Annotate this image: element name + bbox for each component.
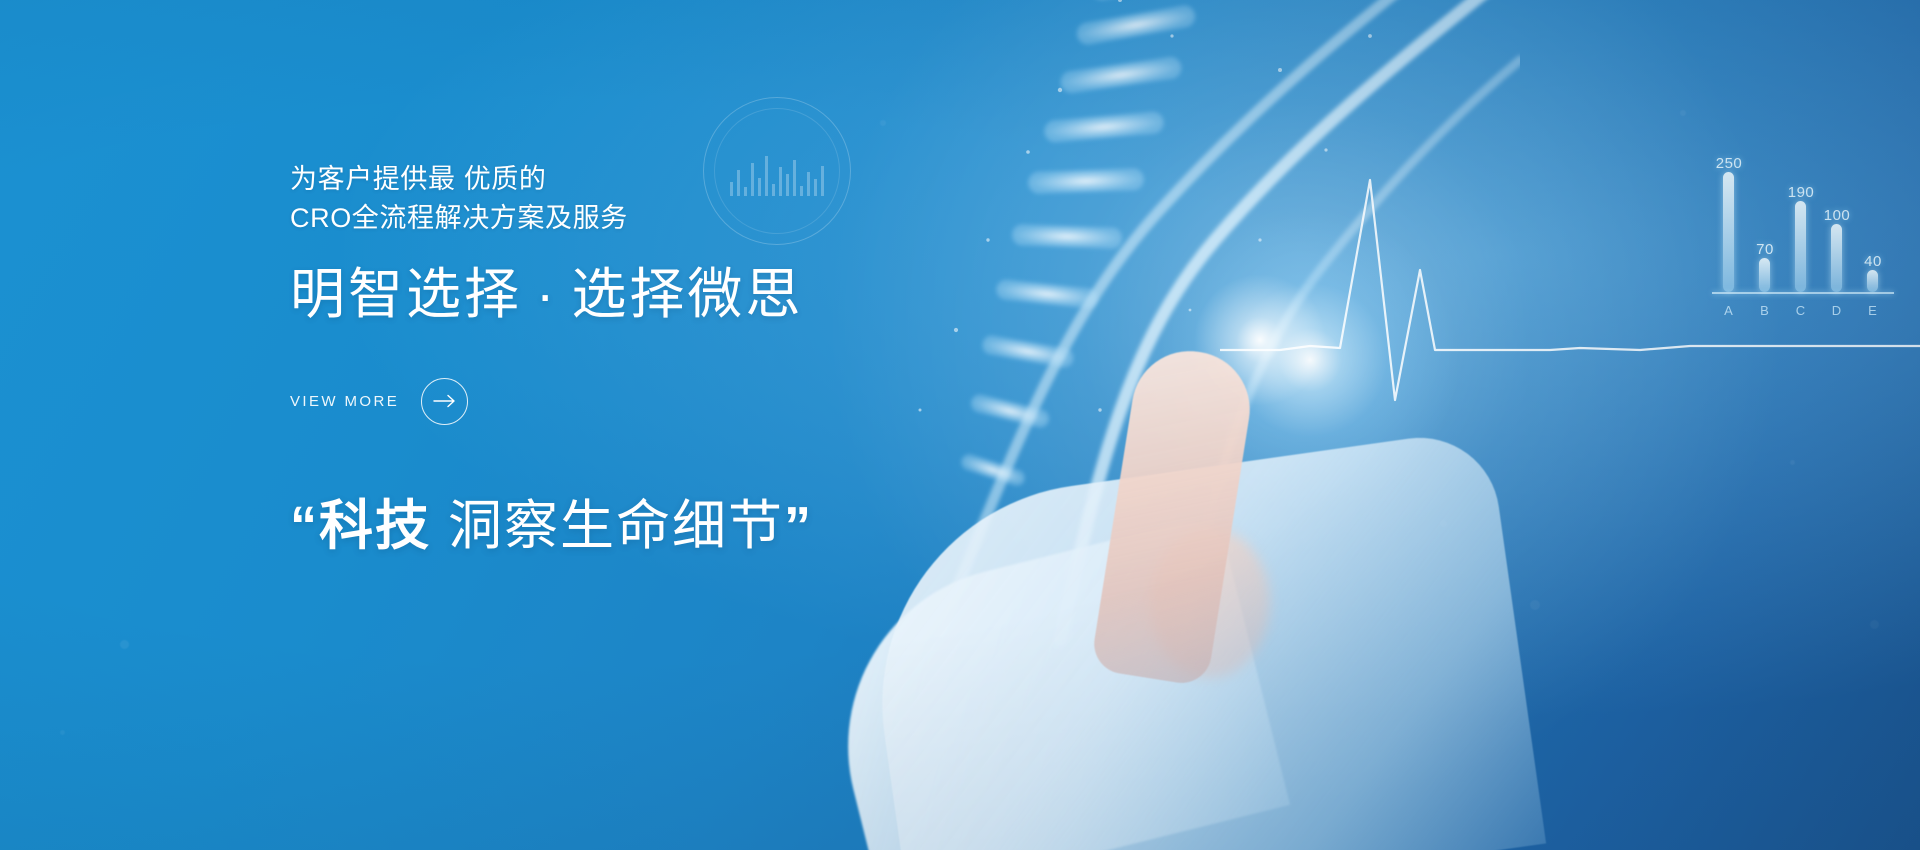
bar xyxy=(1759,258,1770,292)
helix-glow xyxy=(1140,210,1480,510)
bar-column: 40 xyxy=(1856,172,1890,292)
bar xyxy=(1723,172,1734,292)
particle xyxy=(1530,600,1540,610)
bar-value-label: 100 xyxy=(1824,207,1851,224)
arrow-right-icon[interactable] xyxy=(421,378,468,425)
helix-glow-core xyxy=(1180,270,1340,410)
bar-chart-hud: 250 70 190 100 40 A B C D E xyxy=(1712,155,1912,320)
bar-value-label: 190 xyxy=(1788,184,1815,201)
chart-category-label: B xyxy=(1748,303,1782,318)
quote-open-mark: “ xyxy=(290,496,319,556)
chart-category-label: D xyxy=(1820,303,1854,318)
page-title: 明智选择·选择微思 xyxy=(290,264,1050,326)
particle xyxy=(880,120,886,126)
bar-column: 190 xyxy=(1784,172,1818,292)
particle xyxy=(60,730,65,735)
chart-plot-area: 250 70 190 100 40 xyxy=(1712,172,1884,292)
subheading-line-2: CRO全流程解决方案及服务 xyxy=(290,199,1050,238)
bar xyxy=(1831,224,1842,292)
quote-strong: 科技 xyxy=(319,496,431,556)
bar xyxy=(1795,201,1806,292)
hero-content: 为客户提供最 优质的 CRO全流程解决方案及服务 明智选择·选择微思 VIEW … xyxy=(290,160,1050,560)
particle xyxy=(1870,620,1879,629)
quote-close-mark: ” xyxy=(784,496,813,556)
bar xyxy=(1867,270,1878,292)
headline-separator: · xyxy=(522,263,571,325)
bar-value-label: 40 xyxy=(1864,253,1882,270)
view-more-button[interactable]: VIEW MORE xyxy=(290,378,468,425)
chart-category-label: E xyxy=(1856,303,1890,318)
particle xyxy=(1680,110,1686,116)
chart-category-label: A xyxy=(1712,303,1746,318)
hero-subheading: 为客户提供最 优质的 CRO全流程解决方案及服务 xyxy=(290,160,1050,237)
chart-axis-line xyxy=(1712,292,1894,294)
view-more-label: VIEW MORE xyxy=(290,393,399,410)
headline-right: 选择微思 xyxy=(571,263,803,325)
bar-column: 100 xyxy=(1820,172,1854,292)
particle xyxy=(1790,460,1795,465)
bar-column: 250 xyxy=(1712,172,1746,292)
ecg-waveform-icon xyxy=(1220,150,1920,450)
sleeve-cuff xyxy=(810,514,1290,850)
hand-knuckle xyxy=(1150,528,1270,678)
quote-light: 洞察生命细节 xyxy=(448,496,784,556)
bar-column: 70 xyxy=(1748,172,1782,292)
particle xyxy=(1160,700,1168,708)
bar-value-label: 250 xyxy=(1716,155,1743,172)
hero-banner: 250 70 190 100 40 A B C D E xyxy=(0,0,1920,850)
particle xyxy=(1063,630,1076,643)
subheading-line-1: 为客户提供最 优质的 xyxy=(290,160,1050,199)
particle xyxy=(120,640,129,649)
index-finger xyxy=(1090,343,1258,687)
particle xyxy=(1440,520,1447,527)
bar-value-label: 70 xyxy=(1756,241,1774,258)
hero-quote: “科技 洞察生命细节” xyxy=(290,481,1050,560)
chart-category-label: C xyxy=(1784,303,1818,318)
headline-left: 明智选择 xyxy=(290,263,522,325)
